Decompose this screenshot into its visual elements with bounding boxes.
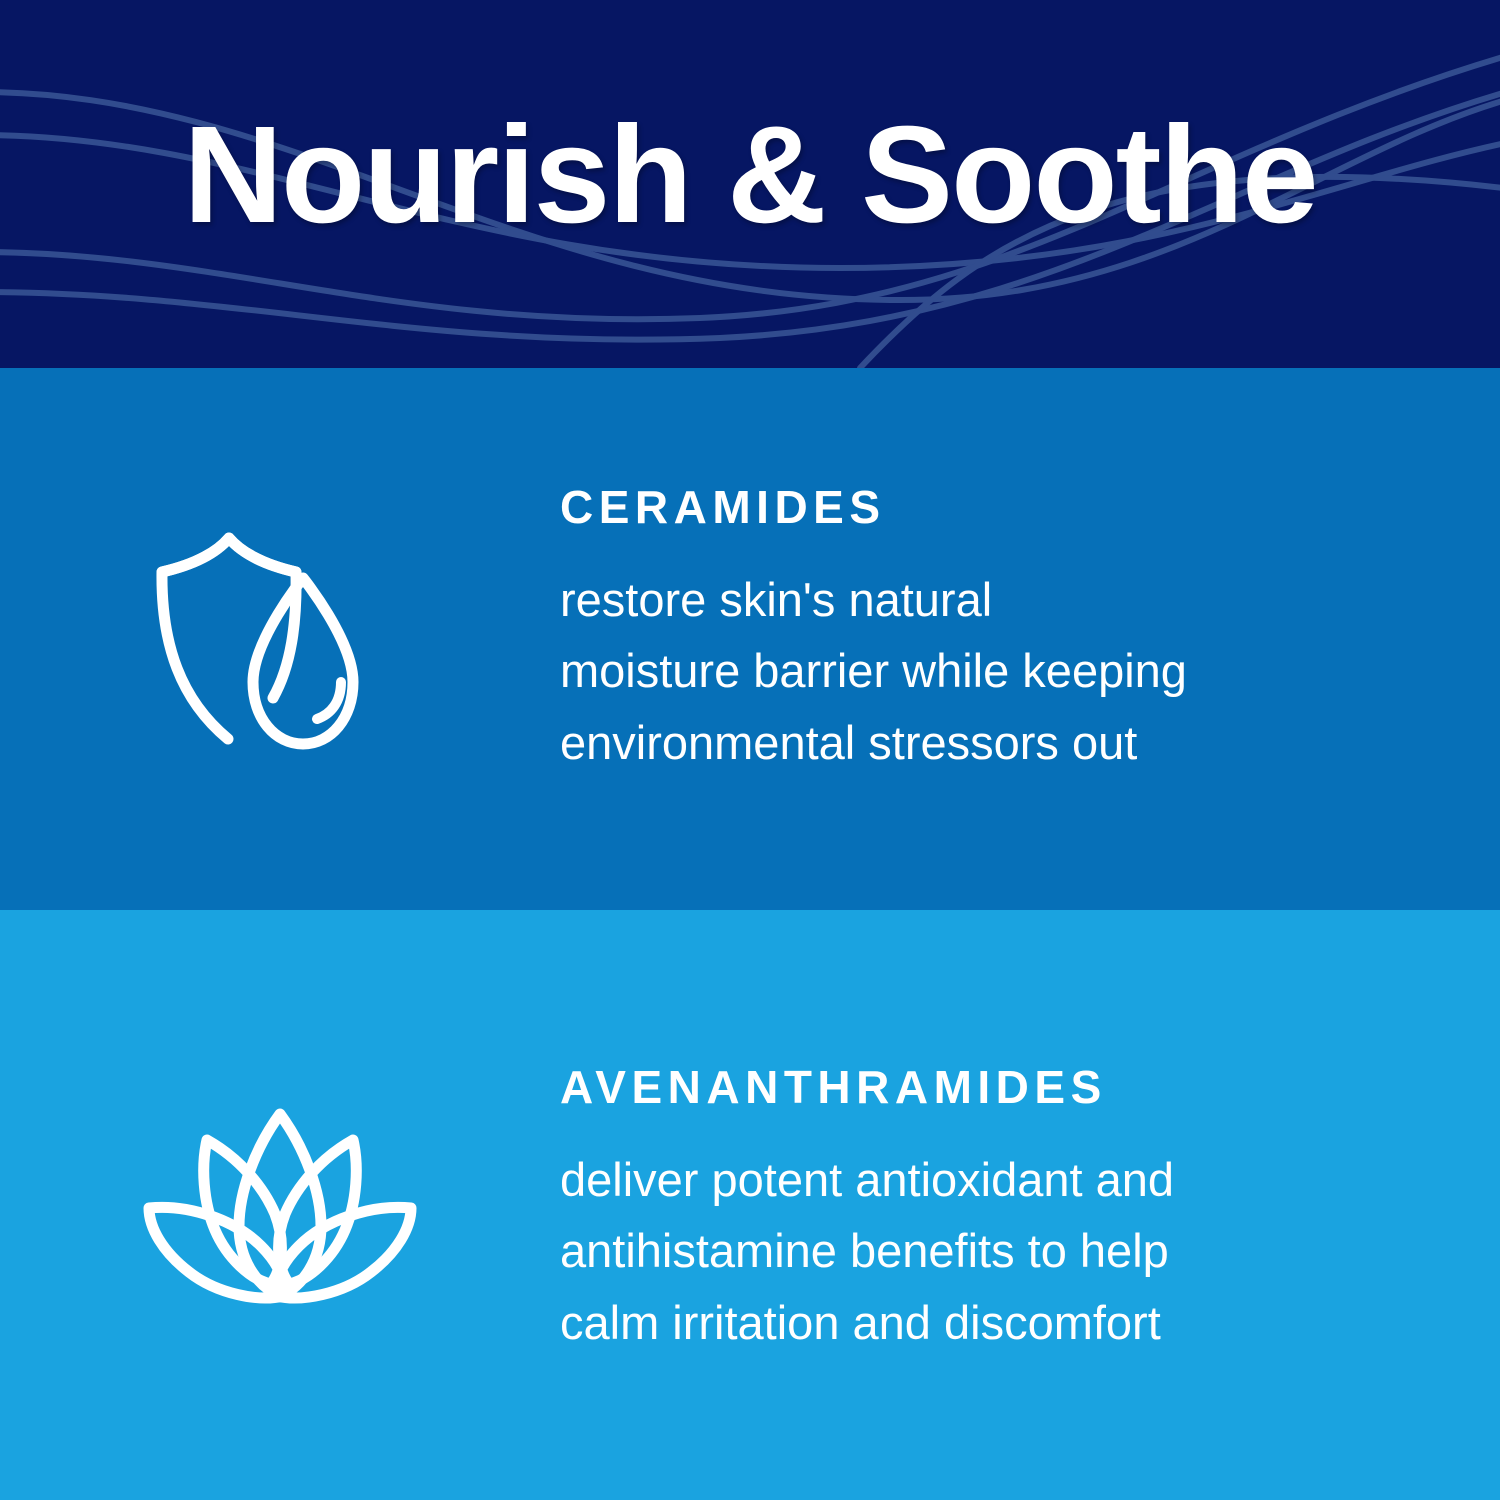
lotus-flower-icon: [135, 1100, 425, 1310]
page-title: Nourish & Soothe: [0, 0, 1500, 368]
benefit-heading-avenanthramides: AVENANTHRAMIDES: [560, 1064, 1440, 1110]
benefit-body-ceramides: restore skin's natural moisture barrier …: [560, 564, 1360, 778]
shield-droplet-icon-container: [0, 514, 560, 764]
avenanthramides-text-block: AVENANTHRAMIDES deliver potent antioxida…: [560, 1064, 1500, 1358]
benefit-section-ceramides: CERAMIDES restore skin's natural moistur…: [0, 368, 1500, 910]
header-banner: Nourish & Soothe: [0, 0, 1500, 368]
benefit-body-line: calm irritation and discomfort: [560, 1287, 1360, 1358]
product-benefits-infographic: Nourish & Soothe CERAMIDES restore skin'…: [0, 0, 1500, 1500]
shield-droplet-icon: [145, 514, 415, 764]
benefit-heading-ceramides: CERAMIDES: [560, 484, 1440, 530]
ceramides-text-block: CERAMIDES restore skin's natural moistur…: [560, 484, 1500, 778]
benefit-body-avenanthramides: deliver potent antioxidant and antihista…: [560, 1144, 1360, 1358]
lotus-flower-icon-container: [0, 1100, 560, 1310]
benefit-body-line: environmental stressors out: [560, 707, 1360, 778]
benefit-body-line: restore skin's natural: [560, 564, 1360, 635]
benefit-body-line: moisture barrier while keeping: [560, 635, 1360, 706]
benefit-body-line: deliver potent antioxidant and: [560, 1144, 1360, 1215]
benefit-section-avenanthramides: AVENANTHRAMIDES deliver potent antioxida…: [0, 910, 1500, 1500]
benefit-body-line: antihistamine benefits to help: [560, 1215, 1360, 1286]
